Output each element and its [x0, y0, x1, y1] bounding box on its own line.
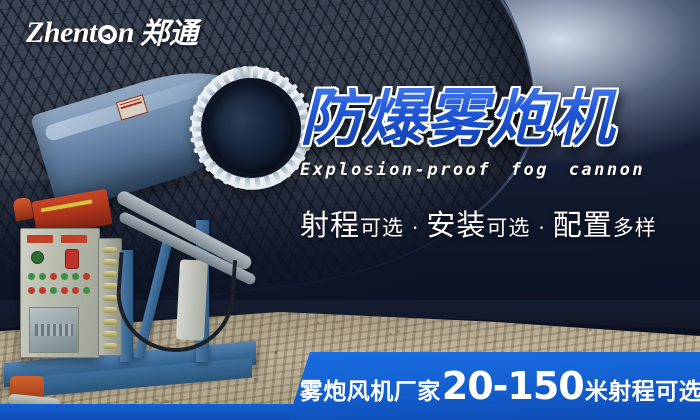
spray-nozzle	[278, 76, 289, 89]
spray-nozzle	[213, 167, 224, 180]
spray-nozzle	[211, 78, 222, 91]
spray-nozzle	[233, 176, 241, 189]
control-cabinet	[20, 228, 100, 358]
spray-nozzle	[254, 177, 260, 189]
indicator-light	[50, 273, 57, 280]
indicator-light	[61, 273, 68, 280]
ground-texture-speck	[412, 335, 414, 336]
feature-separator-1: ·	[412, 216, 418, 240]
ground-texture-speck	[464, 325, 467, 327]
bottom-banner[interactable]: 雾炮风机厂家 20-150 米射程可选	[288, 352, 700, 420]
fog-cannon-machine	[0, 60, 330, 410]
indicator-light	[83, 287, 90, 294]
ground-texture-speck	[470, 331, 473, 333]
indicator-row-1	[28, 273, 90, 280]
indicator-light	[39, 273, 46, 280]
ground-texture-speck	[589, 329, 592, 331]
feature-3-label: 配置	[553, 202, 613, 244]
product-banner: Zhentn 郑通 防爆雾炮机 Explosion-proof fog cann…	[0, 0, 700, 420]
emergency-stop-knob	[65, 249, 79, 269]
indicator-light	[72, 273, 79, 280]
spray-nozzle	[204, 161, 216, 173]
spray-nozzle	[261, 67, 269, 80]
circle-arrow-icon	[98, 25, 117, 44]
indicator-light	[72, 287, 79, 294]
ground-texture-speck	[596, 334, 597, 335]
spray-nozzle	[272, 171, 282, 184]
spray-nozzle	[189, 126, 201, 131]
ground-texture-speck	[396, 330, 401, 333]
indicator-light	[61, 287, 68, 294]
ground-texture-speck	[648, 339, 650, 340]
ground-texture-speck	[336, 321, 341, 324]
indicator-light	[28, 287, 35, 294]
spray-nozzle	[286, 84, 298, 96]
spray-nozzle	[189, 115, 202, 122]
indicator-light	[83, 273, 90, 280]
indicator-light	[50, 287, 57, 294]
ground-texture-speck	[692, 339, 694, 340]
spray-nozzle	[198, 153, 211, 164]
indicator-light	[39, 287, 46, 294]
spray-nozzle	[196, 94, 209, 104]
feature-list: 射程 可选 · 安装 可选 · 配置 多样	[300, 202, 692, 244]
spray-nozzle	[230, 68, 238, 81]
spray-nozzle	[203, 85, 215, 97]
feature-1-detail: 可选	[360, 212, 404, 242]
banner-suffix: 米射程可选	[585, 372, 700, 406]
ground-texture-speck	[668, 338, 670, 339]
indicator-row-2	[28, 287, 90, 294]
spray-nozzle	[287, 159, 299, 171]
cabinet-nameplate-right	[61, 235, 87, 243]
banner-prefix: 雾炮风机厂家	[300, 372, 441, 406]
feature-separator-2: ·	[538, 216, 544, 240]
spray-nozzle	[270, 71, 280, 84]
ground-texture-speck	[389, 333, 392, 335]
subtitle-english: Explosion-proof fog cannon	[300, 160, 692, 180]
cabinet-nameplate-left	[27, 235, 53, 243]
spray-nozzle	[190, 136, 203, 143]
brand-name-chinese: 郑通	[140, 19, 198, 48]
spray-nozzle	[220, 72, 230, 85]
bottom-banner-text: 雾炮风机厂家 20-150 米射程可选	[286, 364, 700, 408]
feature-1-label: 射程	[300, 202, 360, 244]
feature-2-label: 安装	[426, 202, 486, 244]
spray-nozzle	[252, 66, 258, 78]
brand-logo[interactable]: Zhentn 郑通	[26, 18, 198, 48]
selector-knob	[31, 251, 44, 264]
warning-beacon-light	[12, 197, 34, 222]
spray-nozzle	[242, 66, 248, 78]
spray-nozzle	[193, 145, 206, 154]
ground-texture-speck	[340, 328, 342, 329]
spray-nozzle	[280, 166, 291, 179]
ground-texture-speck	[488, 342, 490, 343]
ground-texture-speck	[494, 340, 497, 342]
ground-texture-speck	[663, 335, 664, 336]
indicator-light	[28, 273, 35, 280]
spray-nozzle	[222, 172, 232, 185]
feature-3-detail: 多样	[613, 212, 657, 242]
page-title: 防爆雾炮机	[300, 88, 692, 148]
spray-nozzle	[192, 104, 205, 113]
spray-nozzle	[244, 178, 250, 190]
cabinet-viewing-window	[29, 307, 79, 353]
banner-range-value: 20-150	[441, 364, 585, 408]
headline-block: 防爆雾炮机 Explosion-proof fog cannon 射程 可选 ·…	[300, 88, 692, 244]
brand-name-english: Zhentn	[26, 18, 134, 48]
spray-nozzle	[263, 175, 271, 188]
ground-texture-speck	[623, 340, 628, 343]
feature-2-detail: 可选	[486, 212, 530, 242]
